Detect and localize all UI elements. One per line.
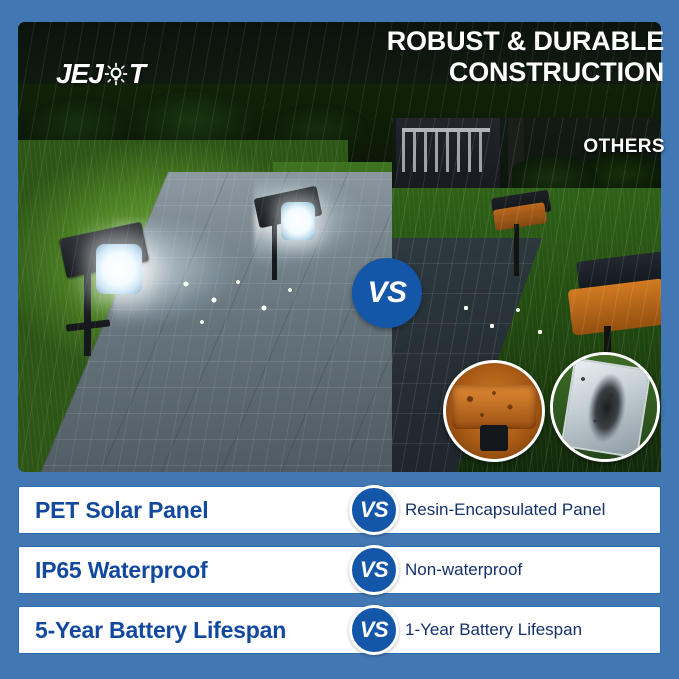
row-vs-badge: VS <box>349 485 399 535</box>
page-title: ROBUST & DURABLE CONSTRUCTION <box>386 26 664 88</box>
panel-blemishes <box>553 355 657 459</box>
table-row: PET Solar Panel VS Resin-Encapsulated Pa… <box>18 486 661 534</box>
sun-bulb-icon <box>104 62 128 86</box>
ours-feature-label: IP65 Waterproof <box>19 557 349 584</box>
damaged-panel-inset <box>550 352 660 462</box>
comparison-table: PET Solar Panel VS Resin-Encapsulated Pa… <box>18 486 661 666</box>
table-row: IP65 Waterproof VS Non-waterproof <box>18 546 661 594</box>
brand-logo: JEJ T <box>56 58 145 90</box>
others-label: OTHERS <box>583 136 665 158</box>
title-line-1: ROBUST & DURABLE <box>387 26 664 56</box>
center-vs-badge: VS <box>352 258 422 328</box>
row-vs-badge: VS <box>349 605 399 655</box>
brand-name-part1: JEJ <box>56 58 103 90</box>
infographic-canvas: JEJ T <box>0 0 679 679</box>
table-row: 5-Year Battery Lifespan VS 1-Year Batter… <box>18 606 661 654</box>
rusted-fixture-inset <box>443 360 545 462</box>
ours-feature-label: PET Solar Panel <box>19 497 349 524</box>
row-vs-badge: VS <box>349 545 399 595</box>
brand-name-part2: T <box>129 58 145 90</box>
fixture-mount <box>480 425 508 451</box>
ours-feature-label: 5-Year Battery Lifespan <box>19 617 349 644</box>
title-line-2: CONSTRUCTION <box>386 57 664 88</box>
